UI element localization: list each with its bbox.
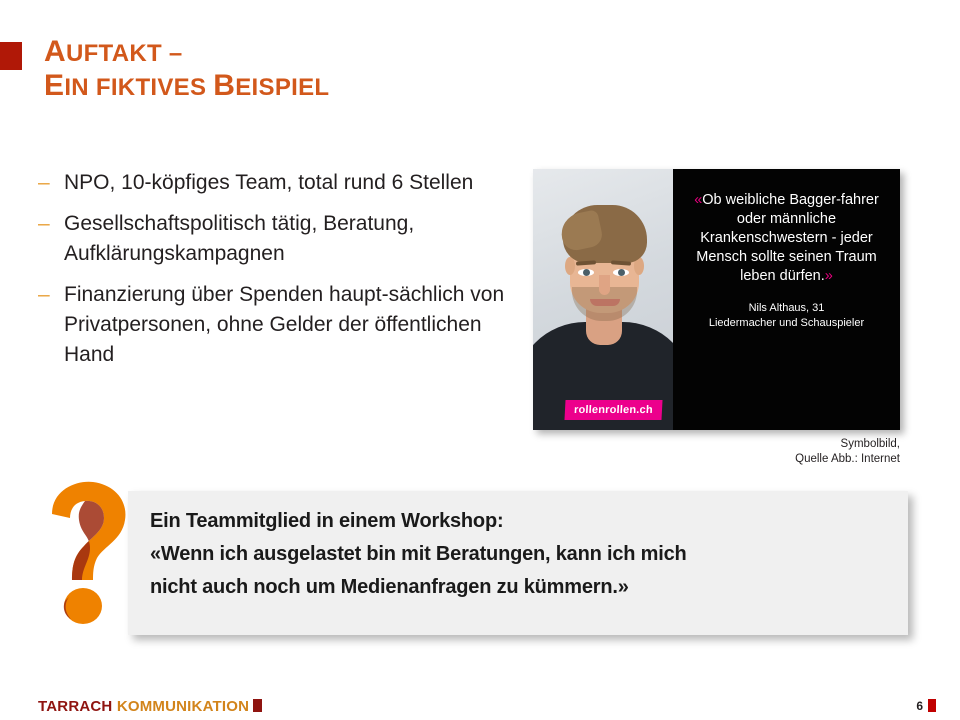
callout-text: Ein Teammitglied in einem Workshop: «Wen… [150, 505, 890, 604]
title-line-2: EIN FIKTIVES BEISPIEL [44, 70, 604, 102]
title-line-2-rest-a: IN FIKTIVES [64, 74, 213, 101]
image-caption: Symbolbild, Quelle Abb.: Internet [620, 437, 900, 467]
image-caption-line-1: Symbolbild, [620, 437, 900, 452]
quote-body: Ob weibliche Bagger-fahrer oder männlich… [696, 192, 879, 284]
title-line-1-rest: UFTAKT – [66, 40, 183, 67]
page-number-square-icon [928, 699, 936, 712]
list-item-label: NPO, 10-köpfiges Team, total rund 6 Stel… [64, 168, 518, 198]
title-accent-square [0, 42, 22, 70]
quote-attribution-name: Nils Althaus, 31 [687, 301, 886, 316]
portrait-mouth [590, 299, 620, 306]
bullet-list: – NPO, 10-köpfiges Team, total rund 6 St… [38, 168, 518, 381]
quote-text: «Ob weibliche Bagger-fahrer oder männlic… [687, 191, 886, 286]
portrait-nose [599, 275, 610, 295]
quote-attribution-role: Liedermacher und Schauspieler [687, 316, 886, 331]
bullet-dash-icon: – [38, 168, 64, 198]
question-mark-icon [38, 478, 130, 630]
quote-attribution: Nils Althaus, 31 Liedermacher und Schaus… [687, 301, 886, 331]
page-number-value: 6 [916, 699, 923, 713]
brand-logo-part-1: TARRACH [38, 698, 112, 715]
list-item-label: Finanzierung über Spenden haupt-sächlich… [64, 280, 518, 370]
title-line-1-initial: A [44, 35, 66, 68]
quote-panel: «Ob weibliche Bagger-fahrer oder männlic… [673, 169, 900, 430]
list-item: – Gesellschaftspolitisch tätig, Beratung… [38, 209, 518, 269]
bullet-dash-icon: – [38, 280, 64, 310]
brand-logo-part-2: KOMMUNIKATION [117, 698, 249, 715]
title-line-2-initial-b: B [213, 69, 235, 102]
quote-close-mark: » [825, 268, 833, 284]
brand-logo: TARRACH KOMMUNIKATION [38, 698, 262, 715]
list-item: – NPO, 10-köpfiges Team, total rund 6 St… [38, 168, 518, 198]
portrait-eye-left [578, 269, 594, 276]
callout-line-2: «Wenn ich ausgelastet bin mit Beratungen… [150, 538, 890, 571]
portrait-eye-right [613, 269, 629, 276]
page-number: 6 [916, 699, 936, 713]
image-caption-line-2: Quelle Abb.: Internet [620, 452, 900, 467]
brand-logo-square-icon [253, 699, 262, 712]
portrait-pupil-left [583, 269, 590, 276]
title-line-1: AUFTAKT – [44, 36, 604, 68]
rollenrollen-badge: rollenrollen.ch [564, 400, 662, 420]
list-item: – Finanzierung über Spenden haupt-sächli… [38, 280, 518, 370]
title-line-2-initial-a: E [44, 69, 64, 102]
callout-line-3: nicht auch noch um Medienanfragen zu küm… [150, 571, 890, 604]
portrait-quote-image: rollenrollen.ch «Ob weibliche Bagger-fah… [533, 169, 900, 430]
callout-line-1: Ein Teammitglied in einem Workshop: [150, 505, 890, 538]
portrait-photo: rollenrollen.ch [533, 169, 673, 430]
list-item-label: Gesellschaftspolitisch tätig, Beratung, … [64, 209, 518, 269]
bullet-dash-icon: – [38, 209, 64, 239]
title-line-2-rest-b: EISPIEL [235, 74, 329, 101]
portrait-pupil-right [618, 269, 625, 276]
page-title: AUFTAKT – EIN FIKTIVES BEISPIEL [44, 36, 604, 103]
